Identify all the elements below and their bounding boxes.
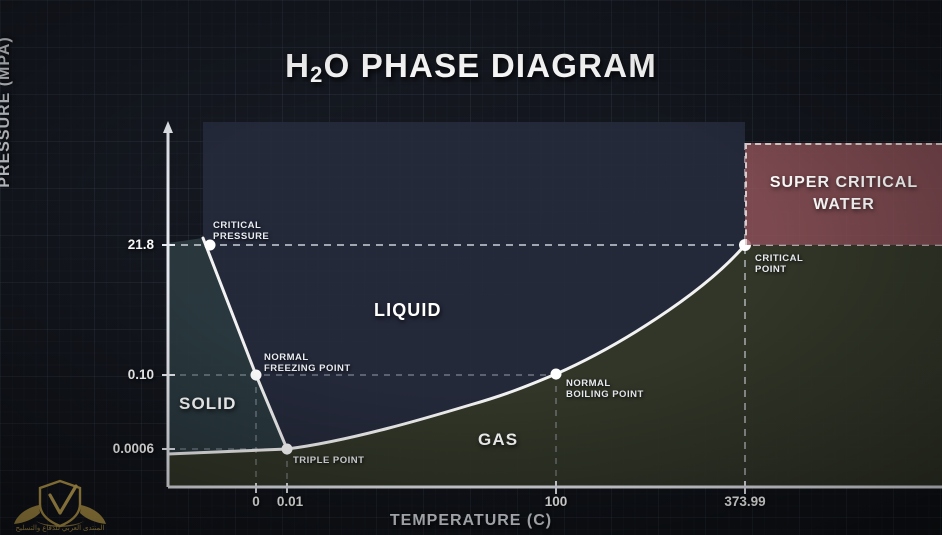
triple-point-annotation: TRIPLE POINT	[293, 455, 364, 466]
supercritical-water-label: SUPER CRITICAL WATER	[751, 172, 937, 216]
y-axis-title: PRESSURE (MPA)	[0, 2, 14, 222]
watermark-caption: المنتدى العربي للدفاع والتسليح	[6, 524, 114, 532]
phase-diagram-canvas: H2O PHASE DIAGRAM	[0, 0, 942, 535]
critical-pressure-annotation: CRITICAL PRESSURE	[213, 220, 269, 242]
laurel-left-icon	[14, 505, 40, 524]
point-normal-freezing[interactable]	[251, 370, 262, 381]
shield-chevron-icon	[50, 486, 76, 513]
x-tick-label-100: 100	[526, 494, 586, 509]
point-triple[interactable]	[282, 444, 293, 455]
y-axis-arrow-icon	[163, 121, 173, 133]
normal-freezing-point-annotation: NORMAL FREEZING POINT	[264, 352, 351, 374]
liquid-region-label: LIQUID	[374, 300, 442, 321]
solid-region-label: SOLID	[179, 394, 236, 414]
normal-boiling-point-annotation: NORMAL BOILING POINT	[566, 378, 644, 400]
y-tick-label-010: 0.10	[68, 367, 154, 382]
x-tick-label-37399: 373.99	[705, 494, 785, 509]
point-normal-boiling[interactable]	[551, 369, 562, 380]
y-tick-label-00006: 0.0006	[48, 441, 154, 456]
critical-point-annotation: CRITICAL POINT	[755, 253, 803, 275]
x-axis-title: TEMPERATURE (C)	[0, 512, 942, 530]
gas-region-label: GAS	[478, 430, 518, 450]
x-tick-label-001: 0.01	[268, 494, 312, 509]
laurel-right-icon	[80, 505, 106, 524]
y-tick-label-218: 21.8	[68, 237, 154, 252]
